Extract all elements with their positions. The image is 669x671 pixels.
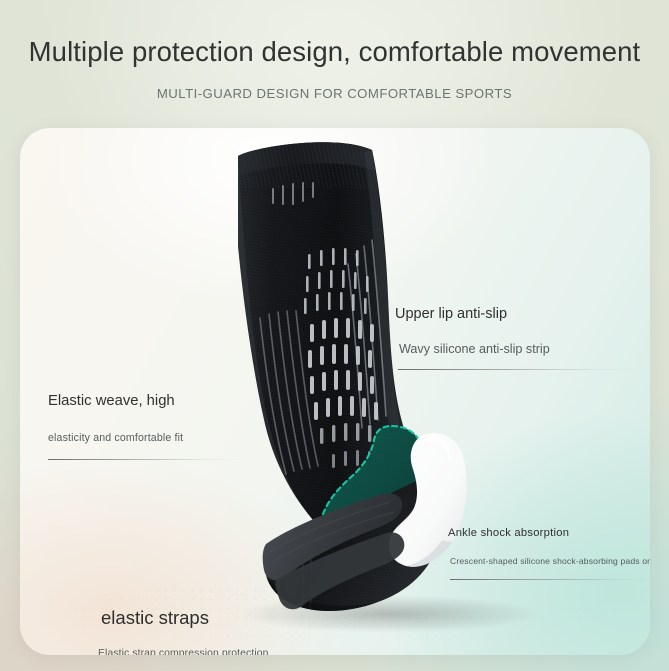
page-subtitle: MULTI-GUARD DESIGN FOR COMFORTABLE SPORT… <box>0 86 669 101</box>
annotation-ankle-shock-subtext: Crescent-shaped silicone shock-absorbing… <box>450 556 650 566</box>
annotation-upper-lip: Upper lip anti-slip Wavy silicone anti-s… <box>395 306 640 370</box>
annotation-ankle-shock-heading: Ankle shock absorption <box>448 527 650 539</box>
annotation-upper-lip-subtext: Wavy silicone anti-slip strip <box>399 342 640 356</box>
annotation-elastic-straps-subtext: Elastic strap compression protection <box>98 648 303 655</box>
feature-card: Upper lip anti-slip Wavy silicone anti-s… <box>20 128 650 655</box>
annotation-ankle-shock-rule <box>450 579 650 580</box>
annotation-upper-lip-heading: Upper lip anti-slip <box>395 306 640 322</box>
annotation-elastic-weave-rule <box>48 459 244 460</box>
annotation-elastic-weave-heading: Elastic weave, high <box>48 393 244 409</box>
annotation-elastic-straps-heading: elastic straps <box>101 607 303 629</box>
annotation-elastic-weave: Elastic weave, high elasticity and comfo… <box>48 393 244 460</box>
annotation-upper-lip-rule <box>398 369 640 370</box>
annotation-elastic-straps: elastic straps Elastic strap compression… <box>80 607 303 655</box>
annotation-ankle-shock: Ankle shock absorption Crescent-shaped s… <box>430 527 650 580</box>
header: Multiple protection design, comfortable … <box>0 0 669 101</box>
annotation-elastic-weave-subtext: elasticity and comfortable fit <box>48 432 244 444</box>
page-title: Multiple protection design, comfortable … <box>0 38 669 66</box>
